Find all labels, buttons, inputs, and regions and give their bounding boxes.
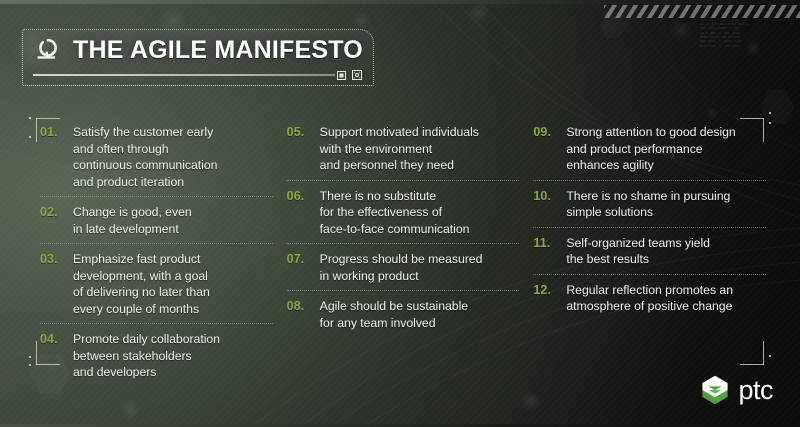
ptc-logo: ptc (701, 375, 773, 405)
manifesto-item-line: of delivering no later than (73, 284, 273, 301)
manifesto-item-line: for the effectiveness of (320, 204, 520, 221)
manifesto-item-text: There is no substitutefor the effectiven… (320, 188, 520, 238)
hazard-stripe-band (604, 5, 800, 18)
manifesto-item: 01.Satisfy the customer earlyand often t… (40, 124, 273, 196)
manifesto-item-line: and often through (73, 141, 273, 158)
manifesto-item-text: Agile should be sustainablefor any team … (320, 298, 520, 331)
manifesto-item-line: and product iteration (73, 174, 273, 191)
manifesto-item-text: Progress should be measuredin working pr… (320, 251, 520, 284)
manifesto-item-line: There is no substitute (320, 188, 520, 205)
manifesto-item-line: atmosphere of positive change (566, 298, 766, 315)
crosshair-square-icon (352, 70, 362, 80)
title-rule-icons (337, 70, 362, 80)
manifesto-item-text: Change is good, evenin late development (73, 204, 273, 237)
manifesto-item: 08.Agile should be sustainablefor any te… (287, 298, 520, 337)
manifesto-item: 11.Self-organized teams yieldthe best re… (533, 235, 766, 274)
manifesto-item-text: Strong attention to good designand produ… (566, 124, 766, 174)
manifesto-item: 05.Support motivated individualswith the… (287, 124, 520, 180)
manifesto-item-line: the best results (566, 251, 766, 268)
manifesto-item-number: 11. (533, 235, 557, 252)
manifesto-item-line: and developers (73, 364, 273, 381)
manifesto-item-separator (40, 243, 273, 244)
manifesto-item: 03.Emphasize fast productdevelopment, wi… (40, 251, 273, 323)
manifesto-item-number: 10. (533, 188, 557, 205)
title-plate: THE AGILE MANIFESTO (22, 29, 374, 86)
manifesto-column: 05.Support motivated individualswith the… (287, 124, 520, 387)
manifesto-item-separator (533, 180, 766, 181)
top-edge-highlight (0, 0, 800, 4)
slide-canvas: 01 // SYS.AGL.0112 REV-A CFG 4471-2208 :… (0, 0, 800, 427)
manifesto-item-number: 06. (287, 188, 311, 205)
manifesto-column: 09.Strong attention to good designand pr… (533, 124, 766, 387)
manifesto-item-line: in working product (320, 268, 520, 285)
manifesto-item-separator (533, 274, 766, 275)
manifesto-item: 04.Promote daily collaborationbetween st… (40, 331, 273, 387)
manifesto-item-line: every couple of months (73, 301, 273, 318)
ptc-wordmark: ptc (738, 377, 773, 404)
manifesto-item-line: simple solutions (566, 204, 766, 221)
manifesto-item-text: Support motivated individualswith the en… (320, 124, 520, 174)
manifesto-item-separator (40, 323, 273, 324)
manifesto-item-separator (287, 290, 520, 291)
manifesto-item-line: Progress should be measured (320, 251, 520, 268)
manifesto-item-line: development, with a goal (73, 268, 273, 285)
manifesto-item-number: 04. (40, 331, 64, 348)
manifesto-item-number: 07. (287, 251, 311, 268)
manifesto-item-line: with the environment (320, 141, 520, 158)
manifesto-item-text: There is no shame in pursuingsimple solu… (566, 188, 766, 221)
manifesto-item-line: in late development (73, 221, 273, 238)
manifesto-item-text: Satisfy the customer earlyand often thro… (73, 124, 273, 190)
manifesto-item: 10.There is no shame in pursuingsimple s… (533, 188, 766, 227)
manifesto-item: 12.Regular reflection promotes anatmosph… (533, 282, 766, 321)
manifesto-item-number: 09. (533, 124, 557, 141)
manifesto-item-line: for any team involved (320, 315, 520, 332)
manifesto-item-line: Promote daily collaboration (73, 331, 273, 348)
page-title: THE AGILE MANIFESTO (73, 36, 363, 65)
manifesto-item: 02.Change is good, evenin late developme… (40, 204, 273, 243)
manifesto-item-separator (287, 243, 520, 244)
title-underline-rule (33, 74, 335, 76)
manifesto-item-number: 02. (40, 204, 64, 221)
manifesto-item-number: 08. (287, 298, 311, 315)
manifesto-item-line: enhances agility (566, 157, 766, 174)
manifesto-item-line: Satisfy the customer early (73, 124, 273, 141)
manifesto-item-line: Strong attention to good design (566, 124, 766, 141)
manifesto-item: 07.Progress should be measuredin working… (287, 251, 520, 290)
manifesto-item-separator (40, 196, 273, 197)
manifesto-columns: 01.Satisfy the customer earlyand often t… (40, 124, 766, 387)
manifesto-item-text: Promote daily collaborationbetween stake… (73, 331, 273, 381)
manifesto-item-line: and personnel they need (320, 157, 520, 174)
manifesto-item-text: Self-organized teams yieldthe best resul… (566, 235, 766, 268)
manifesto-item-line: Change is good, even (73, 204, 273, 221)
manifesto-item-number: 03. (40, 251, 64, 268)
manifesto-item-number: 12. (533, 282, 557, 299)
manifesto-item-line: between stakeholders (73, 348, 273, 365)
title-row: THE AGILE MANIFESTO (33, 35, 363, 65)
manifesto-item-number: 01. (40, 124, 64, 141)
manifesto-item-line: and product performance (566, 141, 766, 158)
technical-annotation-text: 01 // SYS.AGL.0112 REV-A CFG 4471-2208 :… (700, 22, 792, 48)
manifesto-item-number: 05. (287, 124, 311, 141)
manifesto-item-separator (287, 180, 520, 181)
ptc-hexagon-logo-icon (701, 375, 729, 405)
manifesto-item: 06.There is no substitutefor the effecti… (287, 188, 520, 244)
manifesto-item-text: Emphasize fast productdevelopment, with … (73, 251, 273, 317)
manifesto-item-line: Agile should be sustainable (320, 298, 520, 315)
agile-cycle-icon (33, 35, 63, 65)
manifesto-item-line: continuous communication (73, 157, 273, 174)
manifesto-item-line: Support motivated individuals (320, 124, 520, 141)
manifesto-item-separator (533, 227, 766, 228)
square-outline-icon (337, 71, 346, 80)
manifesto-item-line: Regular reflection promotes an (566, 282, 766, 299)
manifesto-item-line: Self-organized teams yield (566, 235, 766, 252)
manifesto-column: 01.Satisfy the customer earlyand often t… (40, 124, 273, 387)
manifesto-item-line: Emphasize fast product (73, 251, 273, 268)
manifesto-item-text: Regular reflection promotes anatmosphere… (566, 282, 766, 315)
manifesto-item-line: face-to-face communication (320, 221, 520, 238)
manifesto-item-line: There is no shame in pursuing (566, 188, 766, 205)
manifesto-item: 09.Strong attention to good designand pr… (533, 124, 766, 180)
